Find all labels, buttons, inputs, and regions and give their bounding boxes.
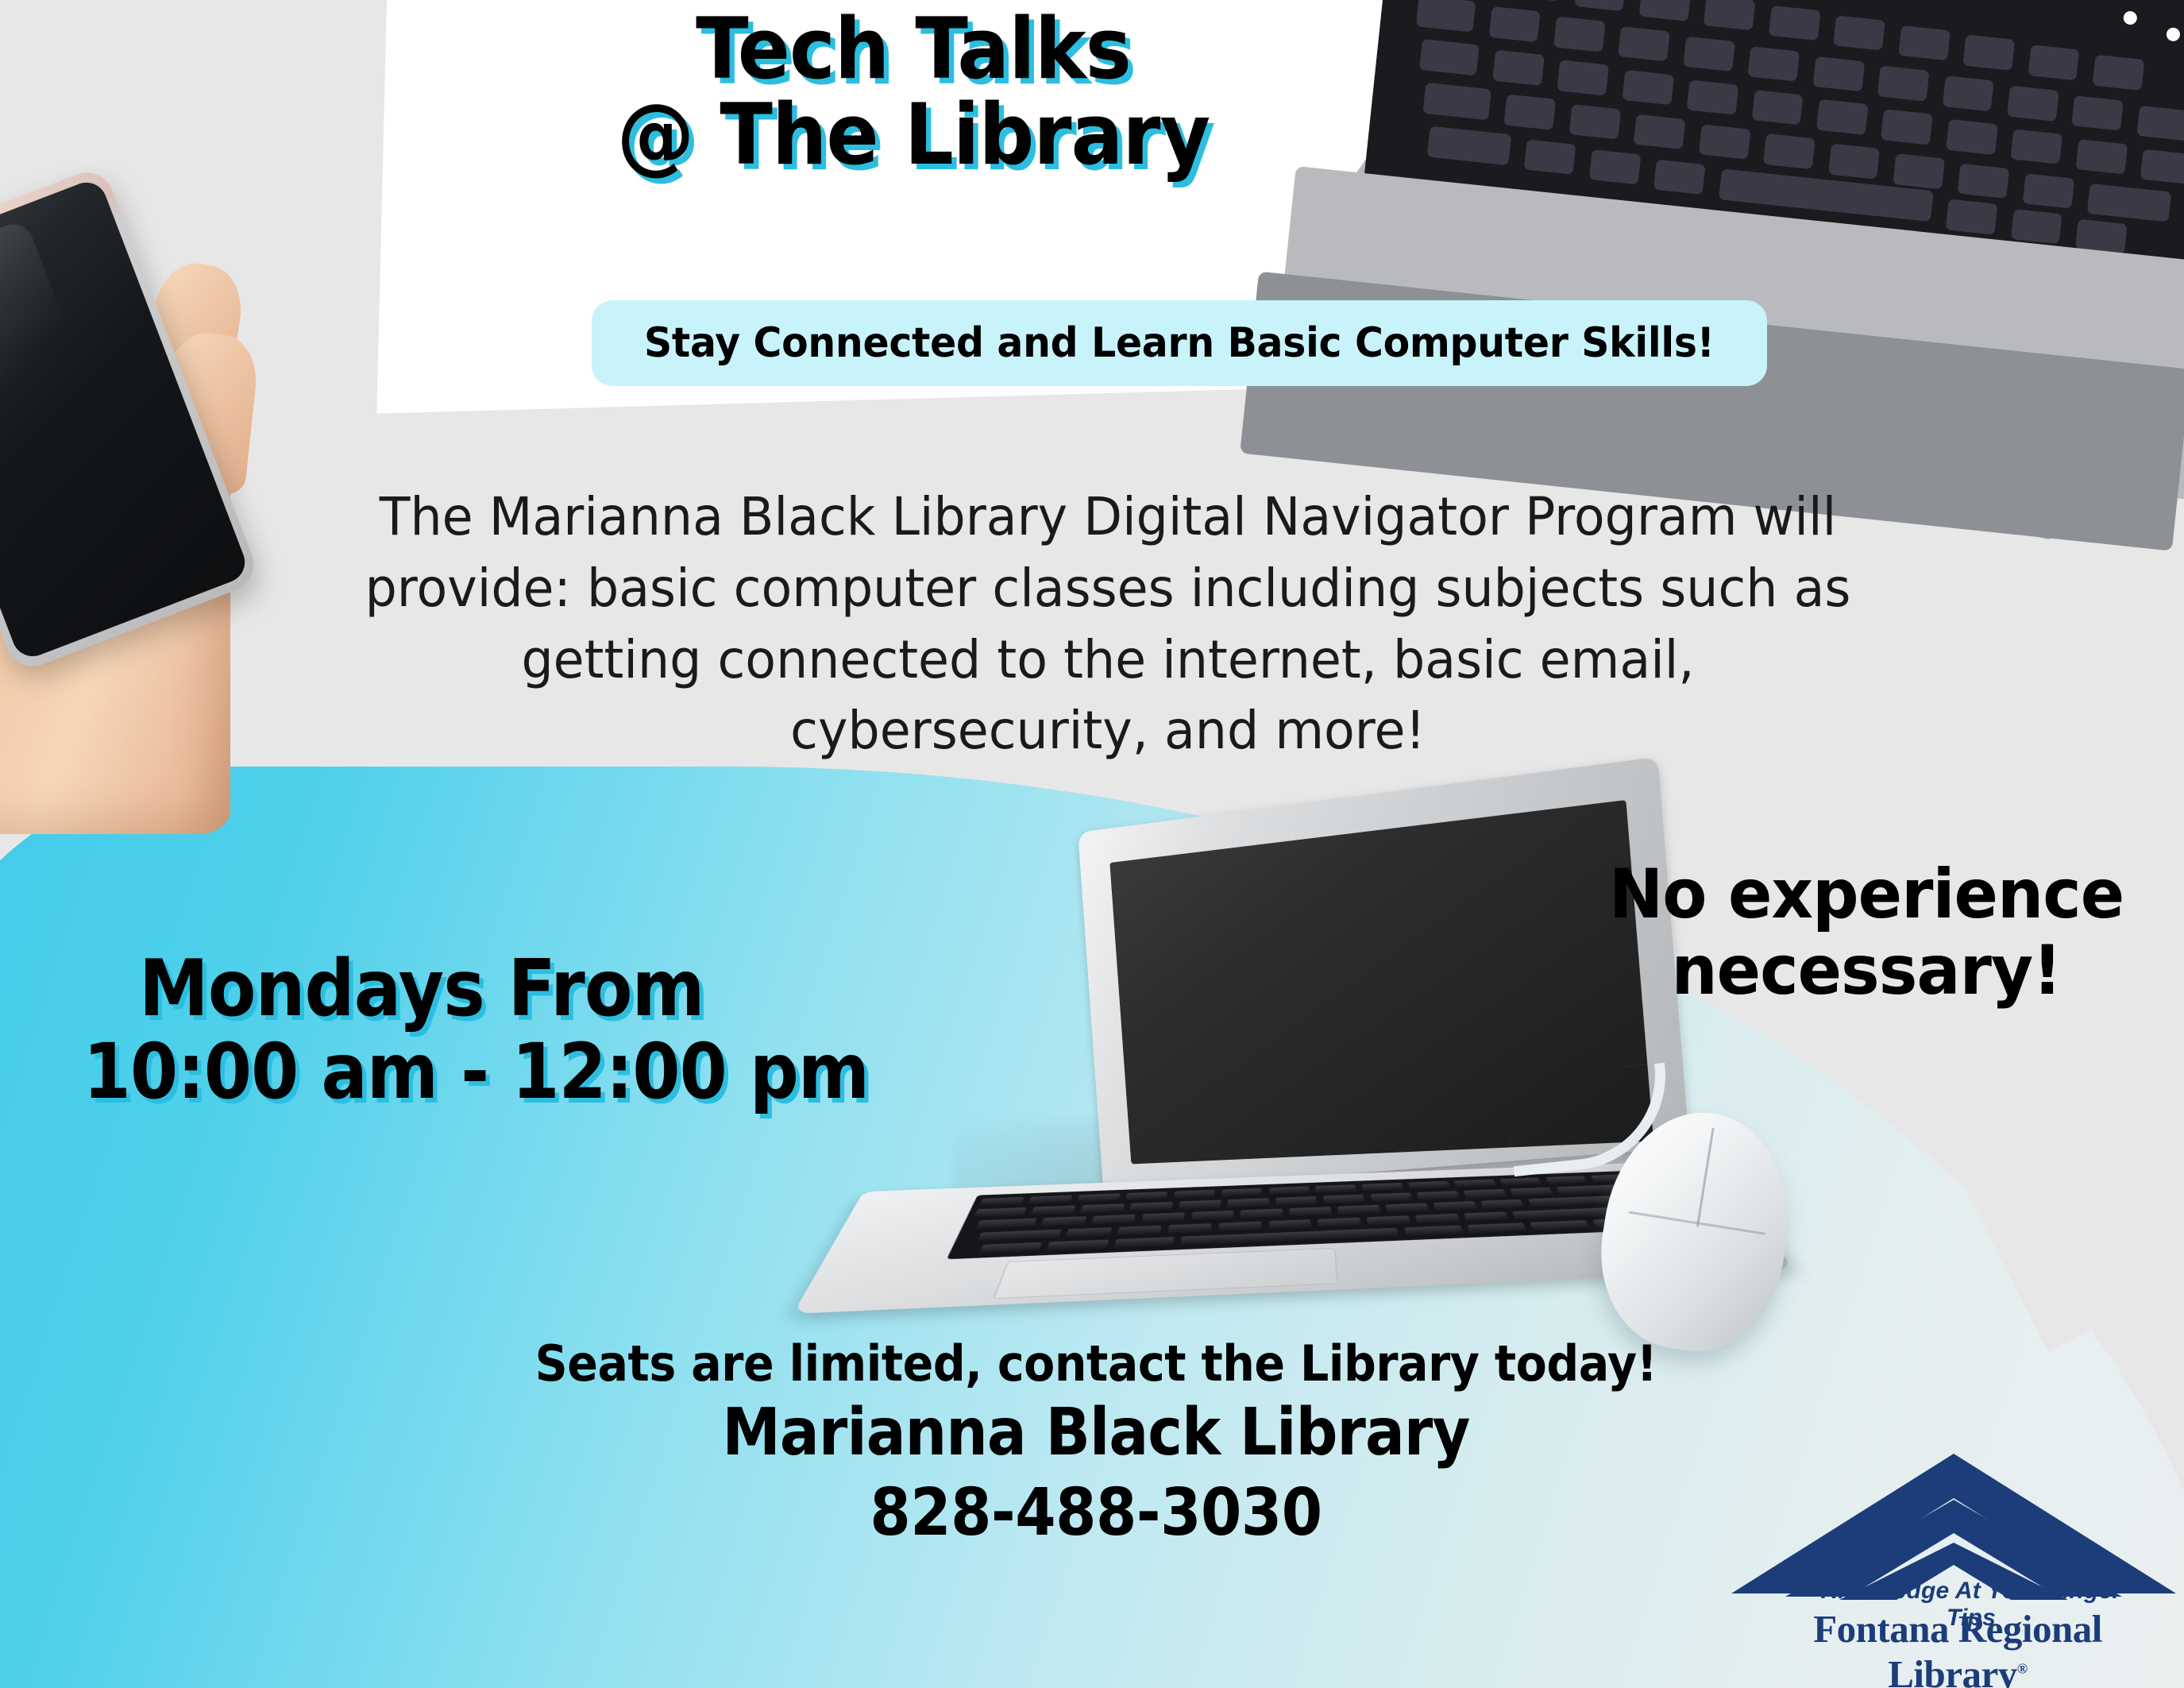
headline-line-1: Tech Talks (526, 6, 1300, 92)
laptop-keyboard (947, 1171, 1676, 1260)
no-experience-note: No experience necessary! (1569, 856, 2165, 1010)
schedule-block: Mondays From 10:00 am - 12:00 pm (139, 949, 982, 1114)
no-experience-line-2: necessary! (1671, 931, 2061, 1010)
schedule-day: Mondays From (139, 949, 982, 1030)
fontana-regional-library-logo: Knowledge At Your Finger Tips Fontana Re… (1731, 1438, 2176, 1660)
schedule-time: 10:00 am - 12:00 pm (83, 1030, 982, 1114)
mouse-button-divider (1696, 1128, 1715, 1227)
no-experience-line-1: No experience (1609, 855, 2124, 934)
subtitle-banner: Stay Connected and Learn Basic Computer … (592, 300, 1767, 386)
contact-phone-number: 828-488-3030 (453, 1474, 1739, 1553)
logo-name-text: Fontana Regional Library (1813, 1607, 2102, 1688)
logo-name: Fontana Regional Library® (1747, 1606, 2168, 1688)
poster-canvas: Tech Talks @ The Library Stay Connected … (0, 0, 2184, 1688)
poster-headline: Tech Talks @ The Library (526, 6, 1300, 178)
headline-line-2: @ The Library (526, 92, 1300, 178)
program-description: The Marianna Black Library Digital Navig… (338, 481, 1877, 767)
hand-holding-phone-image (0, 95, 310, 810)
mouse-seam-line (1628, 1211, 1765, 1234)
laptop-trackpad (994, 1248, 1339, 1299)
subtitle-text: Stay Connected and Learn Basic Computer … (644, 319, 1715, 367)
contact-library-name: Marianna Black Library (453, 1393, 1739, 1474)
logo-trademark: ® (2017, 1661, 2028, 1677)
contact-block: Seats are limited, contact the Library t… (381, 1335, 1811, 1553)
contact-seats-note: Seats are limited, contact the Library t… (438, 1335, 1754, 1393)
phone-screen-glare (0, 218, 92, 448)
